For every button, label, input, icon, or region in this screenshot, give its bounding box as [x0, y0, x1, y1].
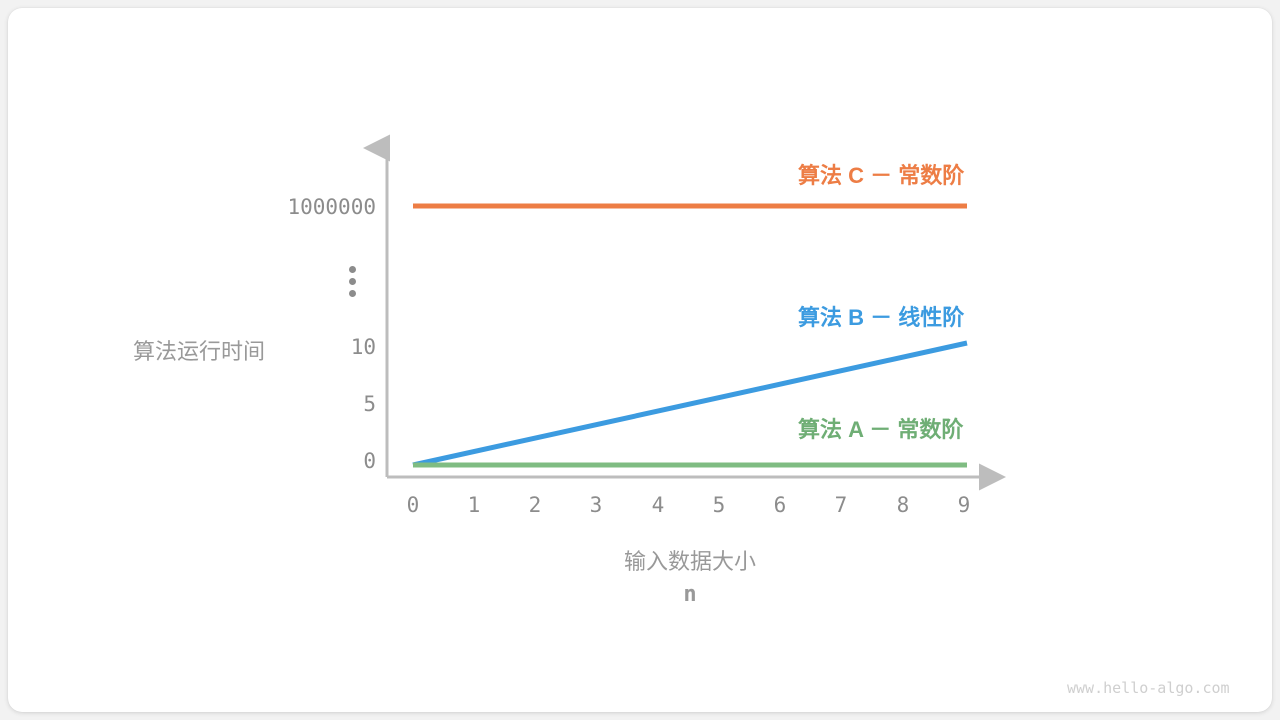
x-tick-label-4: 4 — [628, 493, 688, 517]
series-line-linear-b — [413, 343, 967, 465]
y-tick-label-1000000: 1000000 — [188, 195, 376, 219]
chart-card: 1000000 10 5 0 0 1 2 3 4 5 6 7 8 9 算法运行时… — [8, 8, 1272, 712]
watermark-url: www.hello-algo.com — [1067, 679, 1230, 697]
x-tick-label-3: 3 — [566, 493, 626, 517]
y-axis-ellipsis-icon — [349, 266, 356, 297]
x-axis-title: 输入数据大小 — [560, 544, 820, 576]
y-axis-title: 算法运行时间 — [133, 334, 265, 366]
y-tick-label-5: 5 — [188, 392, 376, 416]
chart-stage: 1000000 10 5 0 0 1 2 3 4 5 6 7 8 9 算法运行时… — [8, 8, 1272, 712]
y-tick-label-0: 0 — [188, 449, 376, 473]
x-tick-label-7: 7 — [811, 493, 871, 517]
x-axis-title-variable: n — [560, 582, 820, 607]
series-label-algorithm-b: 算法 B － 线性阶 — [798, 300, 964, 332]
x-tick-label-6: 6 — [750, 493, 810, 517]
x-tick-label-9: 9 — [934, 493, 994, 517]
x-tick-label-0: 0 — [383, 493, 443, 517]
series-label-algorithm-c: 算法 C － 常数阶 — [798, 158, 964, 190]
x-tick-label-2: 2 — [505, 493, 565, 517]
x-tick-label-8: 8 — [873, 493, 933, 517]
series-label-algorithm-a: 算法 A － 常数阶 — [798, 412, 963, 444]
x-tick-label-1: 1 — [444, 493, 504, 517]
x-tick-label-5: 5 — [689, 493, 749, 517]
